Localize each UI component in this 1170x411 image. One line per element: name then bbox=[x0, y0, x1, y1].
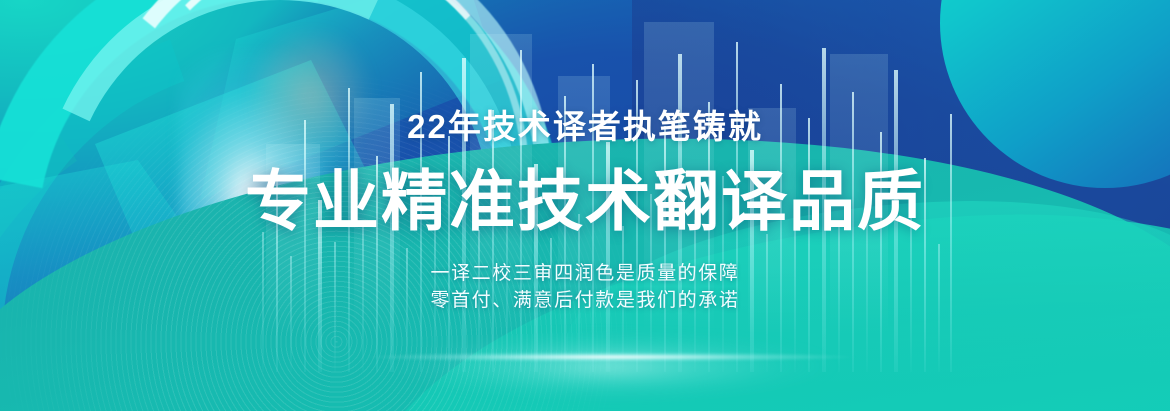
banner-subtitle: 一译二校三审四润色是质量的保障 零首付、满意后付款是我们的承诺 bbox=[0, 260, 1170, 314]
banner-subtitle-line-2: 零首付、满意后付款是我们的承诺 bbox=[0, 287, 1170, 314]
banner-headline: 22年技术译者执笔铸就 bbox=[0, 110, 1170, 143]
promo-banner: 22年技术译者执笔铸就 专业精准技术翻译品质 一译二校三审四润色是质量的保障 零… bbox=[0, 0, 1170, 411]
banner-content: 22年技术译者执笔铸就 专业精准技术翻译品质 一译二校三审四润色是质量的保障 零… bbox=[0, 0, 1170, 411]
banner-subtitle-line-1: 一译二校三审四润色是质量的保障 bbox=[0, 260, 1170, 287]
banner-title: 专业精准技术翻译品质 bbox=[0, 168, 1170, 234]
